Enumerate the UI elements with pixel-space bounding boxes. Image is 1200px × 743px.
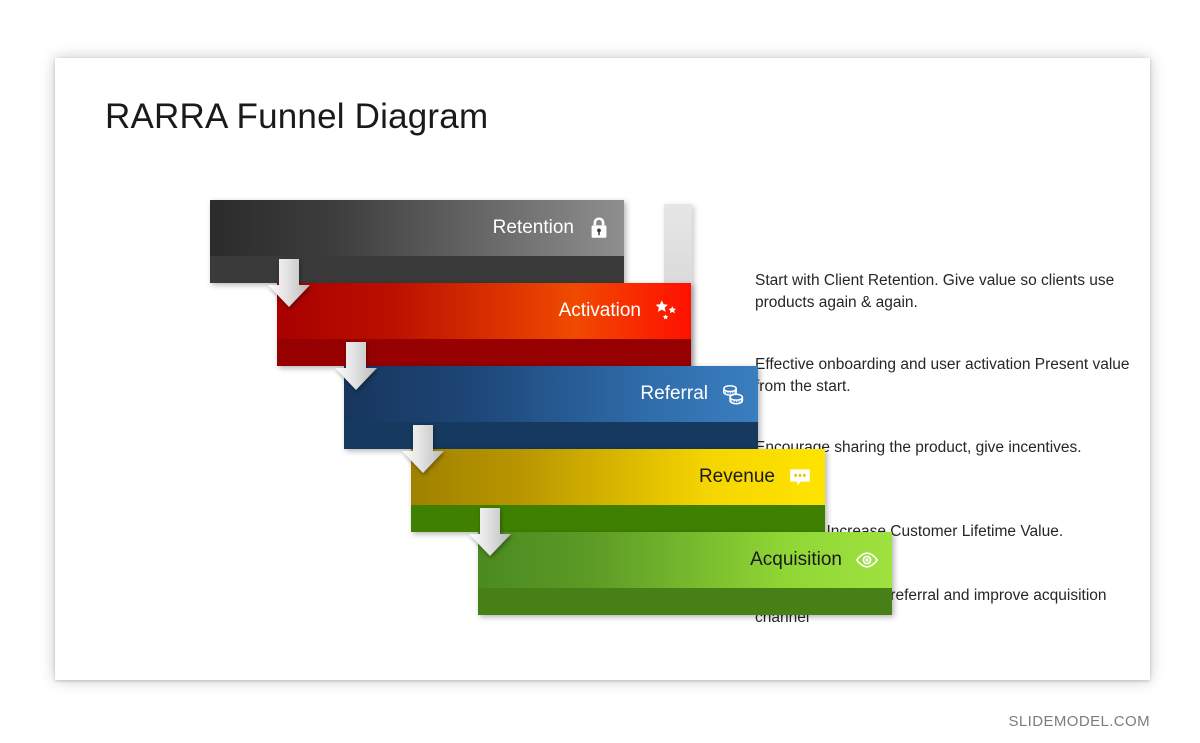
funnel-step-label-referral: Referral	[640, 383, 708, 405]
step-label-row: Referral	[640, 366, 746, 422]
funnel-step-label-retention: Retention	[493, 217, 574, 239]
funnel-step-acquisition[interactable]: Acquisition	[478, 532, 892, 615]
page-title: RARRA Funnel Diagram	[105, 97, 488, 137]
screenshot-root: RARRA Funnel Diagram	[0, 0, 1200, 743]
step-band-main: Revenue	[411, 449, 825, 505]
funnel-description-activation: Effective onboarding and user activation…	[755, 354, 1135, 398]
step-band-main: Acquisition	[478, 532, 892, 588]
arrow-down-icon	[333, 340, 379, 392]
arrow-down-icon	[400, 423, 446, 475]
coins-icon	[720, 381, 746, 407]
step-label-row: Acquisition	[750, 532, 880, 588]
step-label-row: Revenue	[699, 449, 813, 505]
funnel-step-label-revenue: Revenue	[699, 466, 775, 488]
slidemodel-watermark: SLIDEMODEL.COM	[1009, 713, 1150, 730]
arrow-down-icon	[266, 257, 312, 309]
slide-canvas: RARRA Funnel Diagram	[55, 58, 1150, 680]
step-band-main: Activation	[277, 283, 691, 339]
funnel-step-label-acquisition: Acquisition	[750, 549, 842, 571]
eye-icon	[854, 547, 880, 573]
stars-icon	[653, 298, 679, 324]
step-label-row: Retention	[493, 200, 612, 256]
step-label-row: Activation	[559, 283, 679, 339]
step-band-main: Referral	[344, 366, 758, 422]
speech-bubble-icon	[787, 464, 813, 490]
lock-icon	[586, 215, 612, 241]
rarra-funnel-diagram: Retention Activation	[210, 200, 730, 620]
arrow-down-icon	[467, 506, 513, 558]
step-band-sub	[478, 588, 892, 615]
funnel-step-label-activation: Activation	[559, 300, 641, 322]
step-band-main: Retention	[210, 200, 624, 256]
funnel-description-retention: Start with Client Retention. Give value …	[755, 270, 1135, 314]
